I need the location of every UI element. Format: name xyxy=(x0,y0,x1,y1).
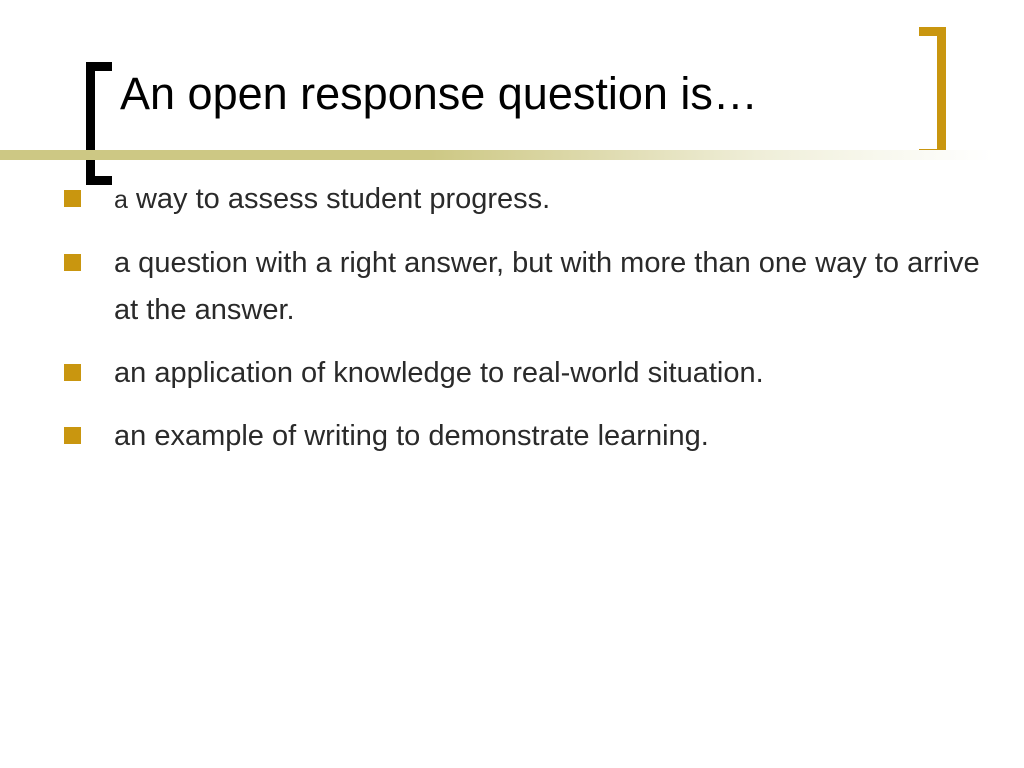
list-item: an application of knowledge to real-worl… xyxy=(0,350,1024,397)
square-bullet-icon xyxy=(64,427,81,444)
list-item-label: a way to assess student progress. xyxy=(114,176,1004,224)
list-item: a question with a right answer, but with… xyxy=(0,240,1024,334)
slide: An open response question is… a way to a… xyxy=(0,0,1024,768)
bullet-list: a way to assess student progress. a ques… xyxy=(0,176,1024,460)
square-bullet-icon xyxy=(64,254,81,271)
left-bracket-decoration xyxy=(86,62,112,185)
slide-body: a way to assess student progress. a ques… xyxy=(0,176,1024,476)
square-bullet-icon xyxy=(64,190,81,207)
title-divider-line xyxy=(0,150,1024,160)
list-item-label: an application of knowledge to real-worl… xyxy=(114,350,1004,397)
slide-title-area: An open response question is… xyxy=(0,0,1024,190)
list-item: a way to assess student progress. xyxy=(0,176,1024,224)
list-item-label: an example of writing to demonstrate lea… xyxy=(114,413,1004,460)
list-item-label: a question with a right answer, but with… xyxy=(114,240,1004,334)
page-title: An open response question is… xyxy=(120,66,930,122)
list-item: an example of writing to demonstrate lea… xyxy=(0,413,1024,460)
square-bullet-icon xyxy=(64,364,81,381)
